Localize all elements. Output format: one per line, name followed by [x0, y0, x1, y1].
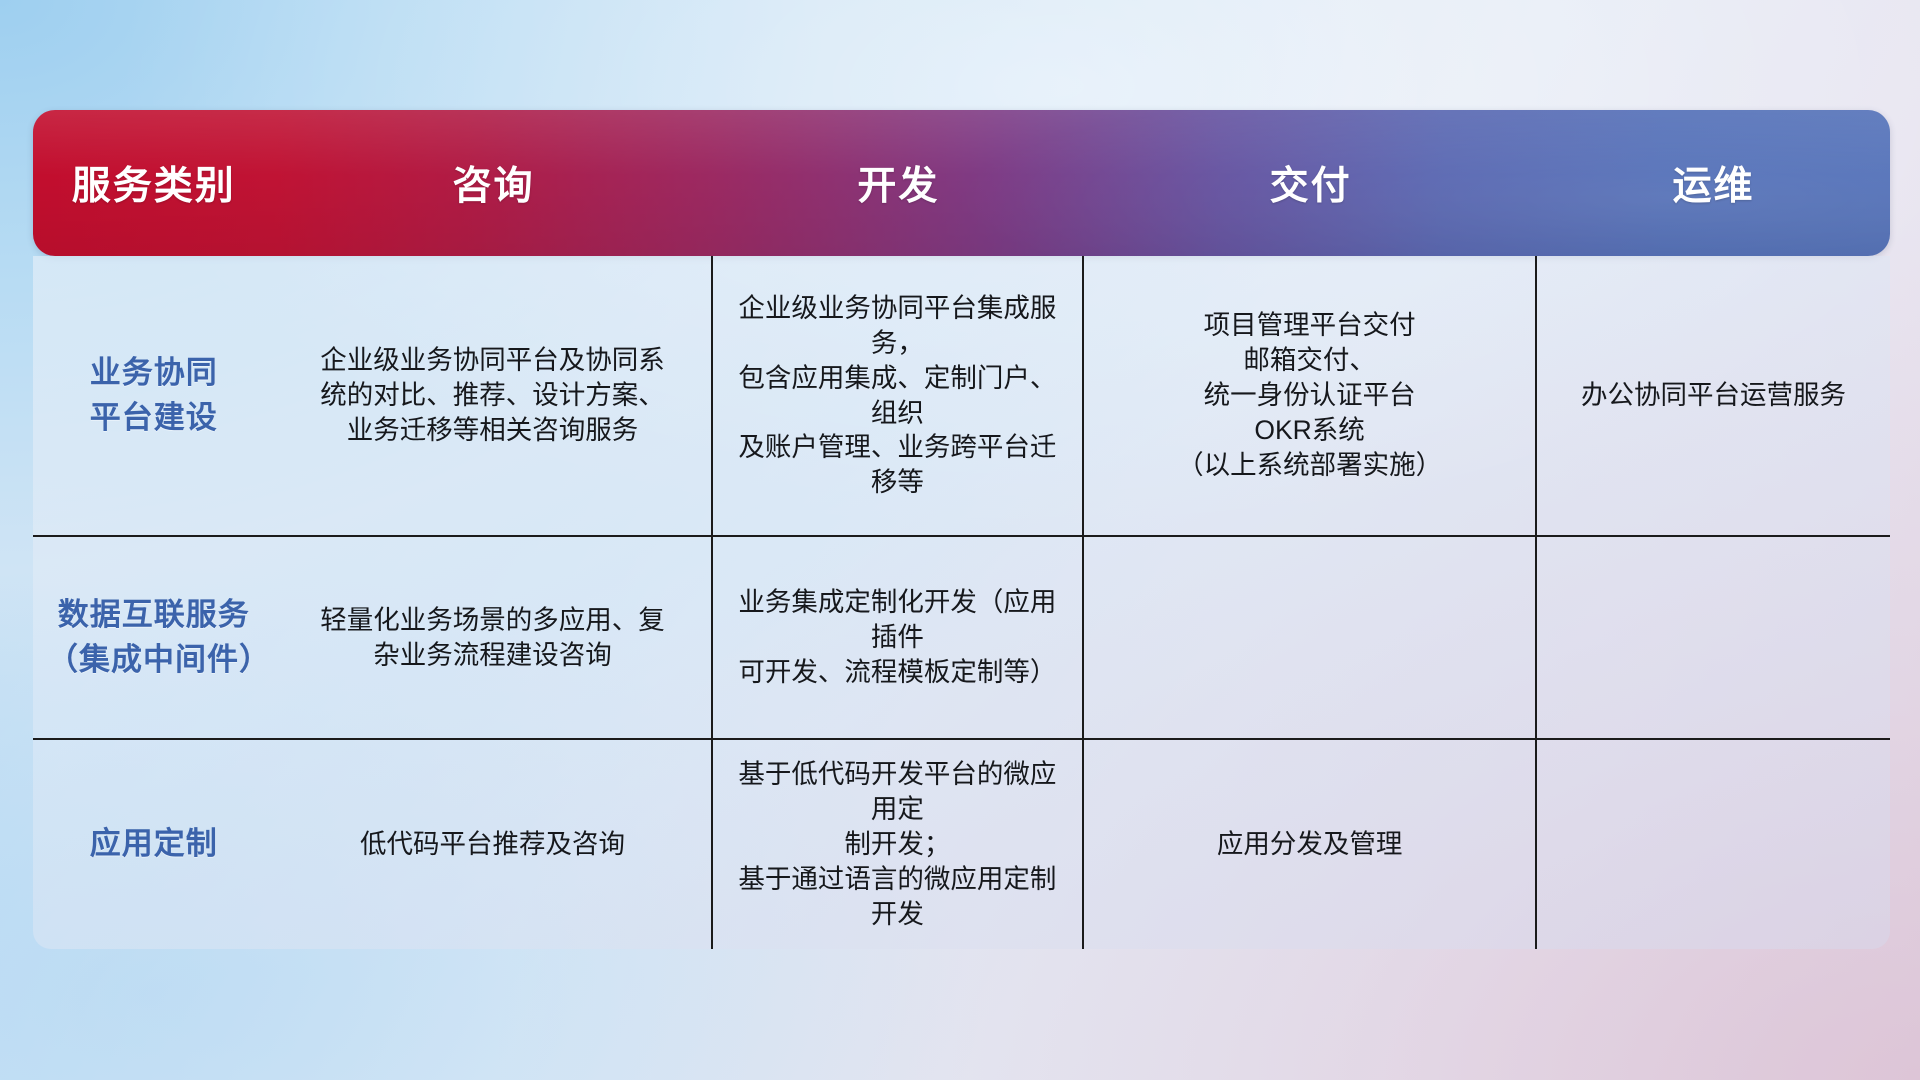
table-header-row: 服务类别 咨询 开发 交付 运维 — [33, 110, 1890, 256]
row-header-data-interconnect: 数据互联服务 （集成中间件） — [33, 537, 274, 738]
table-row: 业务协同 平台建设 企业级业务协同平台及协同系 统的对比、推荐、设计方案、 业务… — [33, 256, 1890, 535]
column-header-operations: 运维 — [1537, 155, 1890, 211]
row-header-business-collaboration: 业务协同 平台建设 — [33, 256, 274, 535]
table-body: 业务协同 平台建设 企业级业务协同平台及协同系 统的对比、推荐、设计方案、 业务… — [33, 256, 1890, 949]
cell-r2-operations — [1537, 740, 1890, 949]
cell-r2-consulting: 低代码平台推荐及咨询 — [274, 740, 712, 949]
cell-r0-delivery: 项目管理平台交付 邮箱交付、 统一身份认证平台 OKR系统 （以上系统部署实施） — [1084, 256, 1537, 535]
cell-r0-development: 企业级业务协同平台集成服务， 包含应用集成、定制门户、组织 及账户管理、业务跨平… — [713, 256, 1084, 535]
column-header-category: 服务类别 — [33, 155, 274, 211]
column-header-development: 开发 — [713, 155, 1084, 211]
cell-r1-delivery — [1084, 537, 1537, 738]
cell-r1-development: 业务集成定制化开发（应用插件 可开发、流程模板定制等） — [713, 537, 1084, 738]
row-header-app-customization: 应用定制 — [33, 740, 274, 949]
table-row: 应用定制 低代码平台推荐及咨询 基于低代码开发平台的微应用定 制开发； 基于通过… — [33, 738, 1890, 949]
services-matrix-table: 服务类别 咨询 开发 交付 运维 业务协同 平台建设 企业级业务协同平台及协同系… — [33, 110, 1890, 950]
cell-r2-delivery: 应用分发及管理 — [1084, 740, 1537, 949]
cell-r0-operations: 办公协同平台运营服务 — [1537, 256, 1890, 535]
column-header-consulting: 咨询 — [274, 155, 712, 211]
cell-r1-consulting: 轻量化业务场景的多应用、复 杂业务流程建设咨询 — [274, 537, 712, 738]
column-header-delivery: 交付 — [1084, 155, 1537, 211]
table-row: 数据互联服务 （集成中间件） 轻量化业务场景的多应用、复 杂业务流程建设咨询 业… — [33, 535, 1890, 738]
cell-r0-consulting: 企业级业务协同平台及协同系 统的对比、推荐、设计方案、 业务迁移等相关咨询服务 — [274, 256, 712, 535]
cell-r1-operations — [1537, 537, 1890, 738]
cell-r2-development: 基于低代码开发平台的微应用定 制开发； 基于通过语言的微应用定制开发 — [713, 740, 1084, 949]
